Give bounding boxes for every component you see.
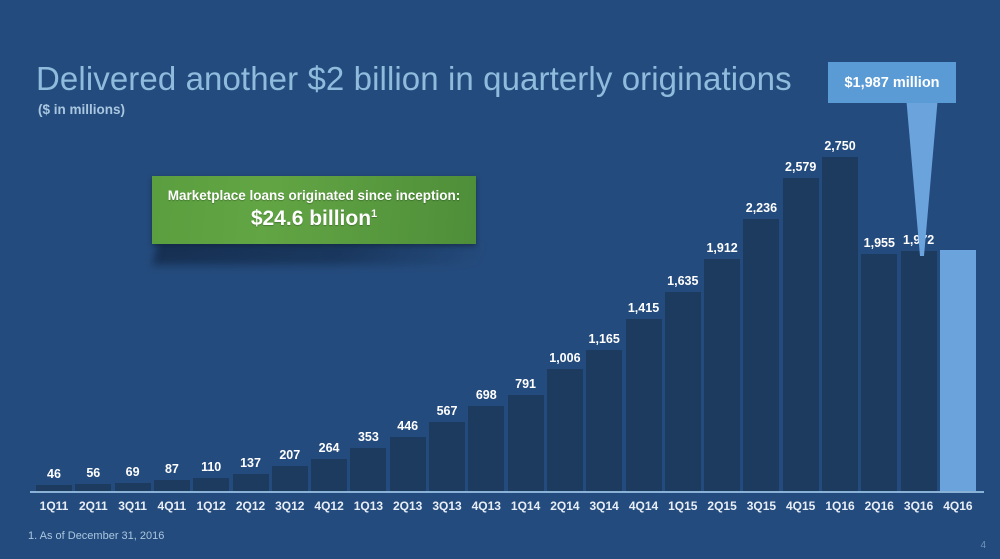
green-callout-line2: $24.6 billion1 xyxy=(251,206,377,232)
page-number: 4 xyxy=(980,540,986,551)
bar[interactable] xyxy=(547,369,583,491)
bar[interactable] xyxy=(822,157,858,491)
bar[interactable] xyxy=(468,406,504,491)
bar-group: 4462Q13 xyxy=(390,0,426,559)
green-callout-shadow xyxy=(152,243,487,265)
bar[interactable] xyxy=(311,459,347,491)
bar-group: 6984Q13 xyxy=(468,0,504,559)
bar-group: 1,6351Q15 xyxy=(665,0,701,559)
bar-group: 874Q11 xyxy=(154,0,190,559)
bar[interactable] xyxy=(508,395,544,491)
bar-group: 1,0062Q14 xyxy=(547,0,583,559)
bar[interactable] xyxy=(154,480,190,491)
bar[interactable] xyxy=(390,437,426,491)
slide-canvas: Delivered another $2 billion in quarterl… xyxy=(0,0,1000,559)
bar[interactable] xyxy=(115,483,151,491)
bar[interactable] xyxy=(193,478,229,491)
green-callout-box: Marketplace loans originated since incep… xyxy=(152,176,476,244)
blue-callout-label: $1,987 million xyxy=(844,75,939,91)
bar[interactable] xyxy=(36,485,72,491)
bar[interactable] xyxy=(704,259,740,491)
blue-callout-pointer-icon xyxy=(906,96,938,256)
green-callout-line1: Marketplace loans originated since incep… xyxy=(168,188,461,204)
bar[interactable] xyxy=(861,254,897,491)
bar-group: 5673Q13 xyxy=(429,0,465,559)
footnote: 1. As of December 31, 2016 xyxy=(28,530,164,542)
green-callout-amount: $24.6 billion xyxy=(251,207,371,230)
bar-group: 2073Q12 xyxy=(272,0,308,559)
bar[interactable] xyxy=(901,251,937,491)
bar[interactable] xyxy=(233,474,269,491)
bar[interactable] xyxy=(586,350,622,491)
bar[interactable] xyxy=(626,319,662,491)
bar[interactable] xyxy=(272,466,308,491)
bar[interactable] xyxy=(665,292,701,491)
x-axis-tick-label: 4Q16 xyxy=(928,499,988,513)
bar-highlighted[interactable] xyxy=(940,250,976,491)
green-callout-footnote-marker: 1 xyxy=(371,208,377,220)
bar-group: 1,1653Q14 xyxy=(586,0,622,559)
bar-group: 1372Q12 xyxy=(233,0,269,559)
bar-group: 2,5794Q15 xyxy=(783,0,819,559)
bar-group: 2,2363Q15 xyxy=(743,0,779,559)
bar-group: 2644Q12 xyxy=(311,0,347,559)
bar[interactable] xyxy=(743,219,779,491)
bar-group: 1,9122Q15 xyxy=(704,0,740,559)
bar[interactable] xyxy=(350,448,386,491)
bar-group: 1101Q12 xyxy=(193,0,229,559)
bar[interactable] xyxy=(429,422,465,491)
bar-group: 7911Q14 xyxy=(508,0,544,559)
bar[interactable] xyxy=(783,178,819,491)
bar[interactable] xyxy=(75,484,111,491)
blue-callout-box: $1,987 million xyxy=(828,62,956,103)
bar-group: 3531Q13 xyxy=(350,0,386,559)
